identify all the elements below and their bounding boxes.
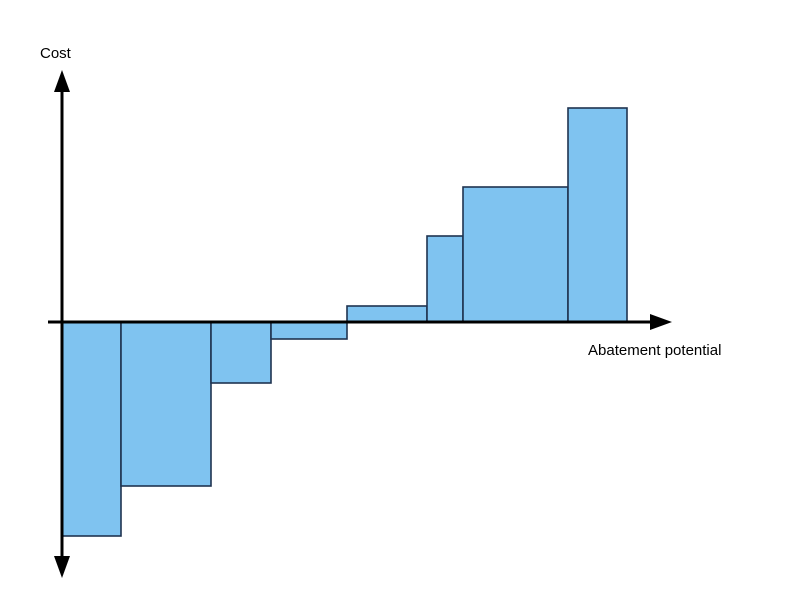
bar-3 <box>211 322 271 383</box>
bar-8 <box>568 108 627 322</box>
marginal-abatement-cost-chart: Cost Abatement potential <box>0 0 793 606</box>
bar-7 <box>463 187 568 322</box>
y-axis-title: Cost <box>40 45 72 62</box>
x-axis-title: Abatement potential <box>588 342 721 359</box>
bar-2 <box>121 322 211 486</box>
bar-6 <box>427 236 463 322</box>
bar-5 <box>347 306 427 322</box>
bar-4 <box>271 322 347 339</box>
chart-container: Cost Abatement potential <box>0 0 793 606</box>
bar-1 <box>62 322 121 536</box>
